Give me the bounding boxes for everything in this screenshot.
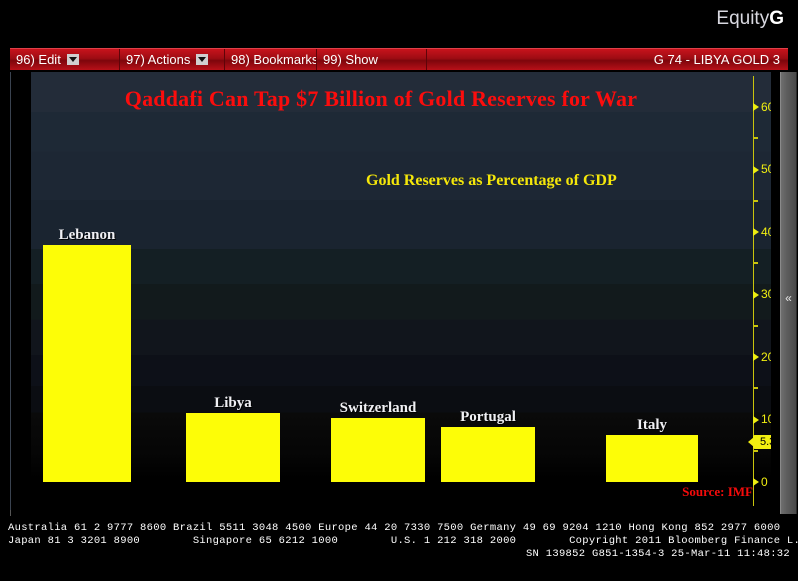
bar-label-italy: Italy (606, 417, 698, 434)
chart-title: Qaddafi Can Tap $7 Billion of Gold Reser… (11, 86, 751, 112)
right-collapse-rail[interactable]: « (772, 70, 798, 516)
toolbar-item-edit[interactable]: 96) Edit (10, 49, 120, 70)
bar-lebanon[interactable] (43, 245, 131, 482)
bar-italy[interactable] (606, 435, 698, 482)
footer-divider-tick (10, 510, 11, 516)
bar-label-libya: Libya (186, 395, 280, 412)
y-label-40: 40 (761, 226, 771, 238)
current-value-flag: 5.3684 (753, 435, 771, 449)
brand-text: Equity (716, 8, 769, 29)
collapse-left-icon[interactable]: « (782, 292, 795, 304)
toolbar-item-show[interactable]: 99) Show (317, 49, 427, 70)
bar-label-portugal: Portugal (441, 409, 535, 426)
bloomberg-equity-brand: EquityG (716, 8, 784, 30)
y-tick-20 (753, 353, 759, 361)
y-label-30: 30 (761, 288, 771, 300)
y-tick-50 (753, 166, 759, 174)
y-tick-minor-55 (753, 137, 758, 139)
bar-label-lebanon: Lebanon (43, 227, 131, 244)
source-note: Source: IMF (682, 484, 753, 500)
y-label-20: 20 (761, 351, 771, 363)
bar-portugal[interactable] (441, 427, 535, 482)
y-tick-10 (753, 416, 759, 424)
y-tick-minor-45 (753, 200, 758, 202)
y-tick-60 (753, 103, 759, 111)
chart-panel: Qaddafi Can Tap $7 Billion of Gold Reser… (10, 72, 771, 514)
terminal-footer: Australia 61 2 9777 8600 Brazil 5511 304… (0, 516, 798, 573)
y-tick-minor-5 (753, 450, 758, 452)
toolbar-item-bookmarks-label: 98) Bookmarks (231, 52, 317, 67)
toolbar-item-edit-label: 96) Edit (16, 52, 61, 67)
y-axis: 0 10 20 30 40 50 60 5.3684 (753, 72, 771, 514)
plot-area: Qaddafi Can Tap $7 Billion of Gold Reser… (11, 72, 771, 514)
footer-contacts-line-1: Australia 61 2 9777 8600 Brazil 5511 304… (8, 522, 780, 535)
brand-accent-letter: G (769, 8, 784, 29)
toolbar-item-show-label: 99) Show (323, 52, 378, 67)
toolbar-item-bookmarks[interactable]: 98) Bookmarks (225, 49, 317, 70)
y-tick-minor-25 (753, 325, 758, 327)
y-label-10: 10 (761, 413, 771, 425)
top-brand-bar: EquityG (0, 0, 798, 46)
function-toolbar: 96) Edit 97) Actions 98) Bookmarks 99) S… (10, 48, 788, 70)
chevron-down-icon[interactable] (196, 54, 208, 65)
footer-session-line: SN 139852 G851-1354-3 25-Mar-11 11:48:32 (0, 548, 790, 561)
footer-contacts-line-2: Japan 81 3 3201 8900 Singapore 65 6212 1… (8, 535, 798, 548)
toolbar-security-label: G 74 - LIBYA GOLD 3 (654, 49, 780, 70)
y-label-0: 0 (761, 476, 768, 488)
y-tick-30 (753, 291, 759, 299)
y-tick-minor-15 (753, 387, 758, 389)
chevron-down-icon[interactable] (67, 54, 79, 65)
y-tick-minor-35 (753, 262, 758, 264)
chart-subtitle: Gold Reserves as Percentage of GDP (366, 172, 617, 190)
toolbar-item-actions-label: 97) Actions (126, 52, 190, 67)
y-label-60: 60 (761, 101, 771, 113)
toolbar-item-actions[interactable]: 97) Actions (120, 49, 225, 70)
y-tick-40 (753, 228, 759, 236)
bar-label-switzerland: Switzerland (323, 400, 433, 417)
bar-switzerland[interactable] (331, 418, 425, 482)
y-tick-0 (753, 478, 759, 486)
bar-libya[interactable] (186, 413, 280, 482)
y-label-50: 50 (761, 163, 771, 175)
